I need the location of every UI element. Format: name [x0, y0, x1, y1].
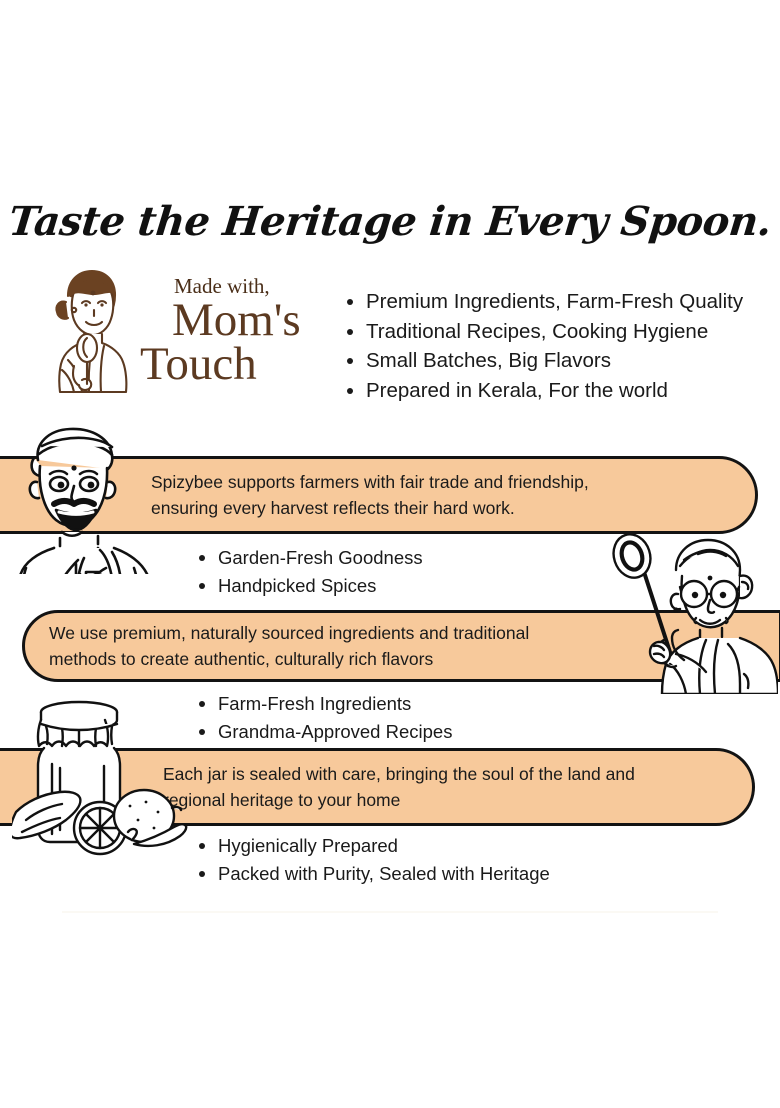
banner-farmers-text: Spizybee supports farmers with fair trad…: [151, 469, 589, 521]
list-item: Grandma-Approved Recipes: [196, 718, 452, 746]
feature-list-hygiene: Hygienically Prepared Packed with Purity…: [196, 832, 550, 888]
banner-sealed-text: Each jar is sealed with care, bringing t…: [163, 761, 635, 813]
farmer-illustration-icon: [8, 416, 156, 574]
list-item: Packed with Purity, Sealed with Heritage: [196, 860, 550, 888]
banner-line: regional heritage to your home: [163, 790, 400, 810]
brand-logo: Made with, Mom's Touch: [34, 262, 314, 394]
poster-canvas: Taste the Heritage in Every Spoon.: [0, 0, 780, 1108]
banner-line: Each jar is sealed with care, bringing t…: [163, 764, 635, 784]
pickle-jar-illustration-icon: [12, 690, 188, 858]
footer-divider: [62, 911, 718, 913]
list-item: Premium Ingredients, Farm-Fresh Quality: [344, 287, 774, 317]
list-item: Prepared in Kerala, For the world: [344, 376, 774, 406]
brand-wordmark: Made with, Mom's Touch: [138, 276, 318, 387]
logo-line-moms: Mom's: [172, 298, 318, 344]
banner-line: ensuring every harvest reflects their ha…: [151, 498, 515, 518]
list-item: Handpicked Spices: [196, 572, 423, 600]
page-title: Taste the Heritage in Every Spoon.: [0, 198, 780, 245]
feature-list-farm: Farm-Fresh Ingredients Grandma-Approved …: [196, 690, 452, 746]
list-item: Traditional Recipes, Cooking Hygiene: [344, 317, 774, 347]
top-feature-list: Premium Ingredients, Farm-Fresh Quality …: [344, 287, 774, 405]
grandma-illustration-icon: [606, 534, 778, 694]
list-item: Farm-Fresh Ingredients: [196, 690, 452, 718]
banner-line: We use premium, naturally sourced ingred…: [49, 623, 529, 643]
feature-list-garden: Garden-Fresh Goodness Handpicked Spices: [196, 544, 423, 600]
list-item: Hygienically Prepared: [196, 832, 550, 860]
list-item: Small Batches, Big Flavors: [344, 346, 774, 376]
banner-ingredients-text: We use premium, naturally sourced ingred…: [49, 620, 529, 672]
logo-line-touch: Touch: [140, 342, 318, 388]
banner-line: methods to create authentic, culturally …: [49, 649, 433, 669]
mom-illustration-icon: [34, 262, 142, 394]
list-item: Garden-Fresh Goodness: [196, 544, 423, 572]
banner-line: Spizybee supports farmers with fair trad…: [151, 472, 589, 492]
